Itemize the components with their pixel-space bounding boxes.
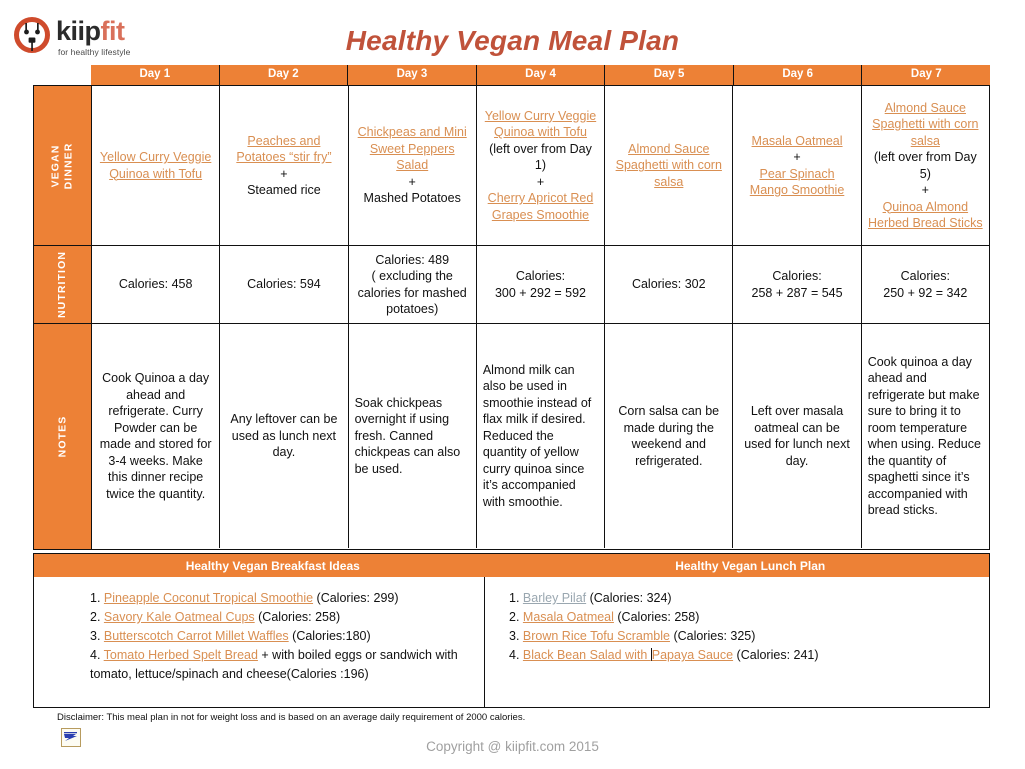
calories-value: Calories: 594 <box>226 276 341 293</box>
dinner-cell-content: Yellow Curry Veggie Quinoa with Tofu <box>98 149 213 182</box>
row-label-nutrition: NUTRITION <box>34 246 91 324</box>
bottom-panel-headers: Healthy Vegan Breakfast Ideas Healthy Ve… <box>34 554 989 577</box>
recipe-link[interactable]: Brown Rice Tofu Scramble <box>523 629 670 643</box>
list-number: 4. <box>509 648 523 662</box>
lunch-list-item: 2. Masala Oatmeal (Calories: 258) <box>509 608 979 627</box>
nutrition-cell-day-1: Calories: 458 <box>92 246 220 323</box>
notes-text: Almond milk can also be used in smoothie… <box>483 362 598 511</box>
breakfast-list-item: 2. Savory Kale Oatmeal Cups (Calories: 2… <box>90 608 474 627</box>
day-header-3: Day 3 <box>348 65 477 85</box>
notes-cell-day-3: Soak chickpeas overnight if using fresh.… <box>349 324 477 548</box>
page-header: kiipfit for healthy lifestyle Healthy Ve… <box>0 0 1025 64</box>
recipe-link[interactable]: Pineapple Coconut Tropical Smoothie <box>104 591 313 605</box>
dinner-cell-day-2: Peaches and Potatoes “stir fry”+Steamed … <box>220 86 348 245</box>
calories-line: ( excluding the calories for mashed pota… <box>355 268 470 318</box>
notes-cell-day-6: Left over masala oatmeal can be used for… <box>733 324 861 548</box>
day-header-5: Day 5 <box>605 65 734 85</box>
notes-text: Left over masala oatmeal can be used for… <box>739 403 854 469</box>
recipe-link[interactable]: Masala Oatmeal <box>523 610 614 624</box>
list-item-suffix: (Calories: 299) <box>313 591 398 605</box>
dinner-cell-day-1: Yellow Curry Veggie Quinoa with Tofu <box>92 86 220 245</box>
breakfast-list-item: 1. Pineapple Coconut Tropical Smoothie (… <box>90 589 474 608</box>
list-item-suffix: (Calories: 258) <box>614 610 699 624</box>
day-header-4: Day 4 <box>477 65 606 85</box>
calories-value: Calories:250 + 92 = 342 <box>868 268 983 301</box>
recipe-link[interactable]: Masala Oatmeal <box>739 133 854 150</box>
calories-line: Calories: 458 <box>98 276 213 293</box>
calories-line: Calories: <box>868 268 983 285</box>
dinner-text: Steamed rice <box>226 182 341 199</box>
dinner-cell-content: Peaches and Potatoes “stir fry”+Steamed … <box>226 133 341 199</box>
recipe-link[interactable]: Peaches and Potatoes “stir fry” <box>226 133 341 166</box>
breakfast-list: 1. Pineapple Coconut Tropical Smoothie (… <box>90 589 474 684</box>
list-number: 3. <box>90 629 104 643</box>
list-item-suffix: (Calories: 241) <box>733 648 818 662</box>
row-label-nutrition-text: NUTRITION <box>56 251 69 318</box>
lunch-list-item: 3. Brown Rice Tofu Scramble (Calories: 3… <box>509 627 979 646</box>
dinner-text: + <box>483 174 598 191</box>
nutrition-cell-day-3: Calories: 489( excluding the calories fo… <box>349 246 477 323</box>
calories-value: Calories:300 + 292 = 592 <box>483 268 598 301</box>
notes-text: Cook Quinoa a day ahead and refrigerate.… <box>98 370 213 502</box>
row-label-notes: NOTES <box>34 324 91 549</box>
notes-cell-day-2: Any leftover can be used as lunch next d… <box>220 324 348 548</box>
dinner-cell-day-6: Masala Oatmeal+Pear Spinach Mango Smooth… <box>733 86 861 245</box>
notes-text: Any leftover can be used as lunch next d… <box>226 411 341 461</box>
meal-plan-table: VEGANDINNER NUTRITION NOTES Yellow Curry… <box>33 85 990 550</box>
nutrition-cell-day-2: Calories: 594 <box>220 246 348 323</box>
calories-line: 258 + 287 = 545 <box>739 285 854 302</box>
breakfast-list-item: 4. Tomato Herbed Spelt Bread + with boil… <box>90 646 474 684</box>
calories-line: 300 + 292 = 592 <box>483 285 598 302</box>
dinner-cell-day-4: Yellow Curry Veggie Quinoa with Tofu(lef… <box>477 86 605 245</box>
recipe-link[interactable]: Quinoa Almond Herbed Bread Sticks <box>868 199 983 232</box>
calories-value: Calories: 458 <box>98 276 213 293</box>
dinner-cell-content: Almond Sauce Spaghetti with corn salsa <box>611 141 726 191</box>
notes-cell-day-7: Cook quinoa a day ahead and refrigerate … <box>862 324 989 548</box>
list-number: 2. <box>509 610 523 624</box>
dinner-text: (left over from Day 5) <box>868 149 983 182</box>
dinner-text: + <box>739 149 854 166</box>
nutrition-row: Calories: 458Calories: 594Calories: 489(… <box>92 246 989 324</box>
dinner-row: Yellow Curry Veggie Quinoa with TofuPeac… <box>92 86 989 246</box>
nutrition-cell-day-7: Calories:250 + 92 = 342 <box>862 246 989 323</box>
row-label-notes-text: NOTES <box>56 416 69 458</box>
recipe-link[interactable]: Yellow Curry Veggie Quinoa with Tofu <box>483 108 598 141</box>
dinner-cell-day-7: Almond Sauce Spaghetti with corn salsa(l… <box>862 86 989 245</box>
recipe-link[interactable]: Almond Sauce Spaghetti with corn salsa <box>611 141 726 191</box>
breakfast-panel: 1. Pineapple Coconut Tropical Smoothie (… <box>34 577 485 707</box>
notes-text: Cook quinoa a day ahead and refrigerate … <box>868 354 983 519</box>
row-label-vegan-dinner-text: VEGANDINNER <box>49 142 75 189</box>
notes-cell-day-4: Almond milk can also be used in smoothie… <box>477 324 605 548</box>
nutrition-cell-day-5: Calories: 302 <box>605 246 733 323</box>
dinner-cell-content: Chickpeas and Mini Sweet Peppers Salad+M… <box>355 124 470 207</box>
recipe-link[interactable]: Pear Spinach Mango Smoothie <box>739 166 854 199</box>
notes-text: Corn salsa can be made during the weeken… <box>611 403 726 469</box>
lunch-panel-header: Healthy Vegan Lunch Plan <box>512 554 990 577</box>
disclaimer-text: Disclaimer: This meal plan in not for we… <box>57 712 525 723</box>
day-header-1: Day 1 <box>91 65 220 85</box>
page-title: Healthy Vegan Meal Plan <box>0 25 1025 57</box>
breakfast-panel-header: Healthy Vegan Breakfast Ideas <box>34 554 512 577</box>
dinner-text: Mashed Potatoes <box>355 190 470 207</box>
dinner-text: + <box>355 174 470 191</box>
day-header-row: Day 1Day 2Day 3Day 4Day 5Day 6Day 7 <box>91 65 990 85</box>
row-label-vegan-dinner: VEGANDINNER <box>34 86 91 246</box>
list-number: 2. <box>90 610 104 624</box>
copyright-text: Copyright @ kiipfit.com 2015 <box>0 739 1025 754</box>
calories-value: Calories: 489( excluding the calories fo… <box>355 252 470 318</box>
recipe-link[interactable]: Almond Sauce Spaghetti with corn salsa <box>868 100 983 150</box>
dinner-cell-content: Almond Sauce Spaghetti with corn salsa(l… <box>868 100 983 232</box>
calories-line: Calories: <box>483 268 598 285</box>
recipe-link[interactable]: Cherry Apricot Red Grapes Smoothie <box>483 190 598 223</box>
recipe-link[interactable]: Butterscotch Carrot Millet Waffles <box>104 629 289 643</box>
lunch-list-item: 1. Barley Pilaf (Calories: 324) <box>509 589 979 608</box>
list-item-suffix: (Calories: 325) <box>670 629 755 643</box>
bottom-panel-body: 1. Pineapple Coconut Tropical Smoothie (… <box>34 577 989 707</box>
list-number: 1. <box>90 591 104 605</box>
dinner-text: (left over from Day 1) <box>483 141 598 174</box>
dinner-text: + <box>226 166 341 183</box>
calories-line: Calories: <box>739 268 854 285</box>
recipe-link[interactable]: Papaya Sauce <box>652 648 733 662</box>
day-header-2: Day 2 <box>220 65 349 85</box>
list-number: 4. <box>90 648 104 662</box>
calories-line: Calories: 302 <box>611 276 726 293</box>
lunch-panel: 1. Barley Pilaf (Calories: 324)2. Masala… <box>485 577 989 707</box>
list-item-suffix: (Calories: 324) <box>586 591 671 605</box>
calories-value: Calories:258 + 287 = 545 <box>739 268 854 301</box>
table-rows: Yellow Curry Veggie Quinoa with TofuPeac… <box>91 86 989 549</box>
calories-line: Calories: 489 <box>355 252 470 269</box>
day-header-6: Day 6 <box>734 65 863 85</box>
list-item-suffix: (Calories: 258) <box>255 610 340 624</box>
notes-row: Cook Quinoa a day ahead and refrigerate.… <box>92 324 989 548</box>
dinner-text: + <box>868 182 983 199</box>
recipe-link[interactable]: Black Bean Salad with <box>523 648 651 662</box>
recipe-link[interactable]: Tomato Herbed Spelt Bread <box>104 648 258 662</box>
nutrition-cell-day-6: Calories:258 + 287 = 545 <box>733 246 861 323</box>
lunch-list: 1. Barley Pilaf (Calories: 324)2. Masala… <box>509 589 979 665</box>
notes-cell-day-5: Corn salsa can be made during the weeken… <box>605 324 733 548</box>
dinner-cell-content: Masala Oatmeal+Pear Spinach Mango Smooth… <box>739 133 854 199</box>
dinner-cell-day-3: Chickpeas and Mini Sweet Peppers Salad+M… <box>349 86 477 245</box>
list-number: 3. <box>509 629 523 643</box>
calories-value: Calories: 302 <box>611 276 726 293</box>
bottom-panels: Healthy Vegan Breakfast Ideas Healthy Ve… <box>33 553 990 708</box>
calories-line: 250 + 92 = 342 <box>868 285 983 302</box>
recipe-link[interactable]: Yellow Curry Veggie Quinoa with Tofu <box>98 149 213 182</box>
notes-cell-day-1: Cook Quinoa a day ahead and refrigerate.… <box>92 324 220 548</box>
nutrition-cell-day-4: Calories:300 + 292 = 592 <box>477 246 605 323</box>
day-header-7: Day 7 <box>862 65 990 85</box>
notes-text: Soak chickpeas overnight if using fresh.… <box>355 395 470 478</box>
dinner-cell-day-5: Almond Sauce Spaghetti with corn salsa <box>605 86 733 245</box>
recipe-link[interactable]: Savory Kale Oatmeal Cups <box>104 610 255 624</box>
recipe-link[interactable]: Chickpeas and Mini Sweet Peppers Salad <box>355 124 470 174</box>
lunch-list-item: 4. Black Bean Salad with Papaya Sauce (C… <box>509 646 979 665</box>
recipe-link[interactable]: Barley Pilaf <box>523 591 586 605</box>
row-label-sidebar: VEGANDINNER NUTRITION NOTES <box>34 86 91 549</box>
list-number: 1. <box>509 591 523 605</box>
meal-plan-page: kiipfit for healthy lifestyle Healthy Ve… <box>0 0 1025 769</box>
calories-line: Calories: 594 <box>226 276 341 293</box>
breakfast-list-item: 3. Butterscotch Carrot Millet Waffles (C… <box>90 627 474 646</box>
list-item-suffix: (Calories:180) <box>289 629 371 643</box>
dinner-cell-content: Yellow Curry Veggie Quinoa with Tofu(lef… <box>483 108 598 224</box>
